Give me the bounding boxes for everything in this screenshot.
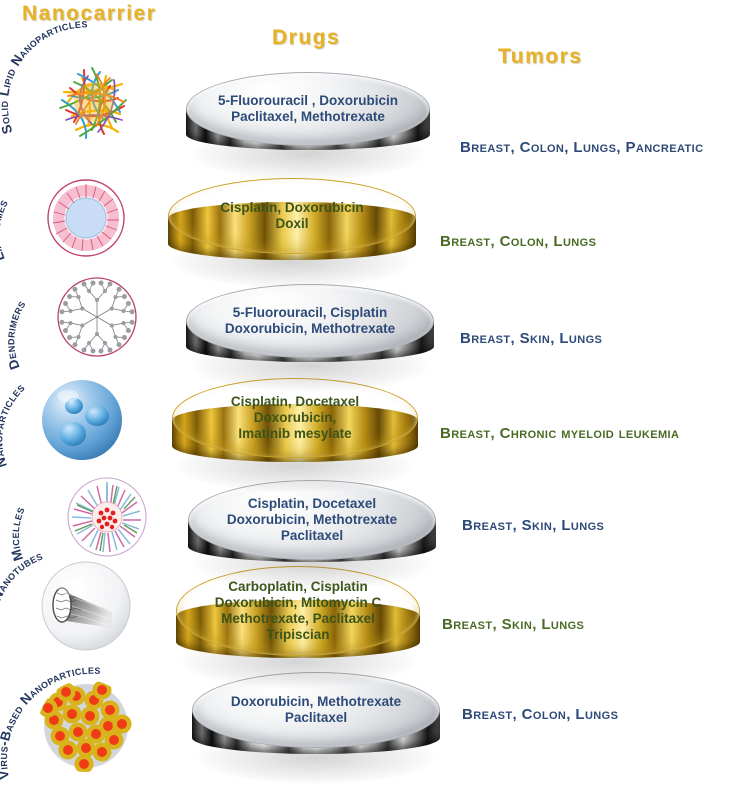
drug-line: Imatinib mesylate [231,426,359,442]
drug-line: Doxorubicin, Mitomycin C [215,595,382,611]
nanoparticle-sphere-icon [40,378,124,462]
drug-line: Paclitaxel, Methotrexate [218,109,398,125]
tumor-label-5: Breast, Skin, Lungs [462,517,604,534]
drug-disc-3: 5-Fluorouracil, Cisplatin Doxorubicin, M… [186,284,434,388]
disc-drug-text-3: 5-Fluorouracil, Cisplatin Doxorubicin, M… [225,305,395,337]
carrier-label-text-3: Dendrimers [2,297,28,371]
tangled-fibers-icon [48,56,140,146]
drug-line: Cisplatin, Doxorubicin [220,200,363,216]
disc-top-face: 5-Fluorouracil , Doxorubicin Paclitaxel,… [186,72,430,146]
drug-line: Paclitaxel [227,528,397,544]
carrier-label-text-4: Nanoparticles [0,380,28,470]
tumor-label-7: Breast, Colon, Lungs [462,706,618,723]
drug-disc-4: Cisplatin, Docetaxel Doxorubicin, Imatin… [172,378,418,490]
drug-line: Doxorubicin, Methotrexate [231,694,401,710]
disc-drug-text-1: 5-Fluorouracil , Doxorubicin Paclitaxel,… [218,93,398,125]
drug-line: Cisplatin, Docetaxel [231,394,359,410]
tumor-label-3: Breast, Skin, Lungs [460,330,602,347]
drug-disc-1: 5-Fluorouracil , Doxorubicin Paclitaxel,… [186,72,430,176]
svg-text:Carbon Nanotubes: Carbon Nanotubes [0,548,45,653]
svg-text:Dendrimers: Dendrimers [2,297,28,371]
drug-line: Cisplatin, Docetaxel [227,496,397,512]
liposome-icon [46,178,126,258]
tumor-label-4: Breast, Chronic myeloid leukemia [440,425,679,442]
carrier-label-text-6: Carbon Nanotubes [0,548,45,653]
disc-drug-text-4: Cisplatin, Docetaxel Doxorubicin, Imatin… [231,394,359,442]
carrier-carbon-nanotubes: Carbon Nanotubes [0,548,171,668]
virus-capsid-cluster-icon [38,680,134,772]
carrier-virus-based-nanoparticles: Virus-Based Nanoparticles [0,660,173,780]
carrier-solid-lipid-nanoparticles: Solid Lipid Nanoparticles [8,28,183,148]
drug-line: Doxil [220,216,363,232]
tumor-label-2: Breast, Colon, Lungs [440,233,596,250]
dendrimer-icon [56,276,138,358]
drug-line: Doxorubicin, [231,410,359,426]
disc-drug-text-5: Cisplatin, Docetaxel Doxorubicin, Methot… [227,496,397,544]
disc-top-face: Cisplatin, Doxorubicin Doxil [168,178,416,254]
disc-drug-text-2: Cisplatin, Doxorubicin Doxil [220,200,363,232]
drug-disc-2: Cisplatin, Doxorubicin Doxil [168,178,416,286]
drug-line: Doxorubicin, Methotrexate [227,512,397,528]
disc-top-face: 5-Fluorouracil, Cisplatin Doxorubicin, M… [186,284,434,358]
column-header-drugs: Drugs [272,26,340,50]
drug-line: Paclitaxel [231,710,401,726]
drug-line: 5-Fluorouracil, Cisplatin [225,305,395,321]
drug-disc-7: Doxorubicin, Methotrexate Paclitaxel [192,672,440,780]
tumor-label-1: Breast, Colon, Lungs, Pancreatic [460,139,703,156]
svg-text:Liposomes: Liposomes [0,197,11,264]
carbon-nanotube-icon [40,560,132,652]
drug-line: Doxorubicin, Methotrexate [225,321,395,337]
column-header-nanocarrier: Nanocarrier [22,2,156,26]
svg-text:Nanoparticles: Nanoparticles [0,380,28,470]
drug-line: 5-Fluorouracil , Doxorubicin [218,93,398,109]
micelle-icon [66,476,148,558]
disc-top-face: Cisplatin, Docetaxel Doxorubicin, Methot… [188,480,436,560]
drug-line: Methotrexate, Paclitaxel [215,611,382,627]
drug-disc-5: Cisplatin, Docetaxel Doxorubicin, Methot… [188,480,436,588]
column-header-tumors: Tumors [498,45,582,69]
drug-line: Tripiscian [215,627,382,643]
disc-drug-text-7: Doxorubicin, Methotrexate Paclitaxel [231,694,401,726]
nanocarrier-drug-tumor-figure: Nanocarrier Drugs Tumors [0,0,753,794]
carrier-label-text-2: Liposomes [0,197,11,264]
tumor-label-6: Breast, Skin, Lungs [442,616,584,633]
